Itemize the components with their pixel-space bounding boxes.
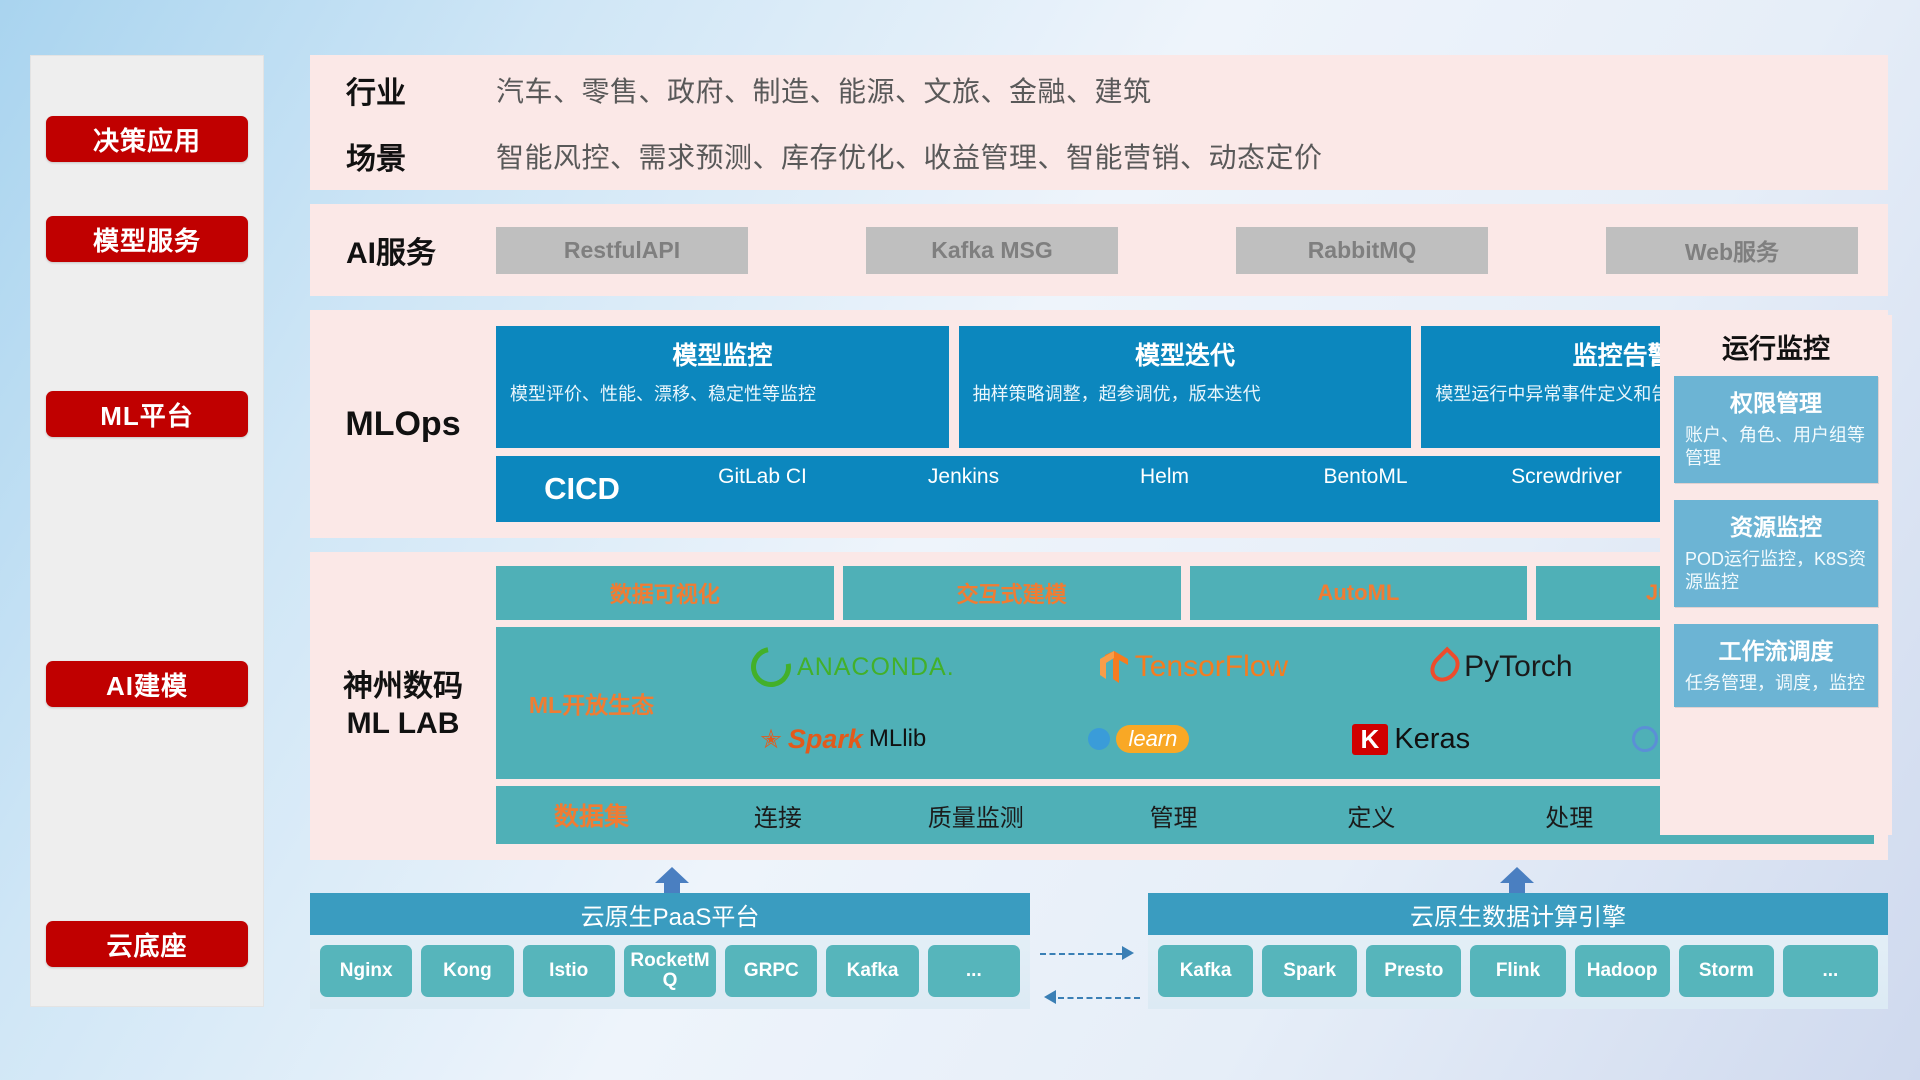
rail-chip-label: 决策应用 [93,121,201,158]
industry-label: 行业 [346,68,496,112]
ml-lab-band: 神州数码 ML LAB 数据可视化 交互式建模 AutoML JupyterLa… [310,552,1888,860]
spark-star-icon: ✭ [760,724,782,755]
dash-line-left [1058,997,1140,999]
dataset-item-manage[interactable]: 管理 [1075,798,1273,833]
tech-hadoop[interactable]: Hadoop [1575,945,1670,997]
spacer [310,190,1888,204]
api-chip-web[interactable]: Web服务 [1606,227,1858,274]
rail-chip-label: 云底座 [106,926,187,963]
rail-chip-cloud-base[interactable]: 云底座 [46,921,248,967]
ai-service-label: AI服务 [346,228,496,272]
cicd-item-bentoml[interactable]: BentoML [1265,466,1466,512]
lab-tab-interactive[interactable]: 交互式建模 [843,566,1181,620]
stack-link-connector [1040,935,1150,1005]
scikit-learn-logo: learn [1088,725,1189,753]
industry-scenario-band: 行业 汽车、零售、政府、制造、能源、文旅、金融、建筑 场景 智能风控、需求预测、… [310,55,1888,190]
mllib-label: MLlib [869,725,926,753]
networkx-node-icon [1632,726,1658,752]
tech-rocketmq[interactable]: RocketMQ [624,945,716,997]
tech-kafka-2[interactable]: Kafka [1158,945,1253,997]
keras-logo: K Keras [1352,723,1471,756]
cicd-item-jenkins[interactable]: Jenkins [863,466,1064,512]
card-desc: 模型评价、性能、漂移、稳定性等监控 [510,382,935,406]
tech-kong[interactable]: Kong [421,945,513,997]
ml-lab-label-line1: 神州数码 [343,670,463,703]
rr-card-title: 资源监控 [1685,508,1867,542]
tensorflow-logo: TensorFlow [1099,650,1288,684]
arrow-left-icon [1044,990,1056,1004]
rail-chip-decision[interactable]: 决策应用 [46,116,248,162]
anaconda-logo: ANACONDA. [751,647,955,687]
keras-label: Keras [1394,723,1470,756]
tech-nginx[interactable]: Nginx [320,945,412,997]
scenario-row: 场景 智能风控、需求预测、库存优化、收益管理、智能营销、动态定价 [346,134,1888,178]
compute-stack: 云原生数据计算引擎 Kafka Spark Presto Flink Hadoo… [1148,893,1888,1009]
cicd-title: CICD [502,471,662,507]
card-title: 模型迭代 [973,336,1398,372]
tech-presto[interactable]: Presto [1366,945,1461,997]
paas-stack: 云原生PaaS平台 Nginx Kong Istio RocketMQ GRPC… [310,893,1030,1009]
right-rail-title: 运行监控 [1660,315,1892,376]
rail-chip-ai-modeling[interactable]: AI建模 [46,661,248,707]
tech-flink[interactable]: Flink [1470,945,1565,997]
scikit-dot-icon [1088,728,1110,750]
api-chip-rabbitmq[interactable]: RabbitMQ [1236,227,1488,274]
tech-kafka[interactable]: Kafka [826,945,918,997]
rr-card-permission[interactable]: 权限管理 账户、角色、用户组等管理 [1674,376,1878,483]
scikit-learn-label: learn [1116,725,1189,753]
tensorflow-icon [1099,650,1129,684]
card-desc: 抽样策略调整，超参调优，版本迭代 [973,382,1398,406]
ml-lab-label-line2: ML LAB [347,707,460,740]
ml-lab-label: 神州数码 ML LAB [310,566,496,844]
pytorch-flame-icon [1425,646,1466,687]
pytorch-logo: PyTorch [1432,650,1572,684]
spark-mllib-logo: ✭ Spark MLlib [760,724,926,755]
rr-card-desc: POD运行监控，K8S资源监控 [1685,548,1867,595]
industry-values: 汽车、零售、政府、制造、能源、文旅、金融、建筑 [496,70,1152,110]
cicd-item-screwdriver[interactable]: Screwdriver [1466,466,1667,512]
lab-tab-data-viz[interactable]: 数据可视化 [496,566,834,620]
rr-card-workflow[interactable]: 工作流调度 任务管理，调度，监控 [1674,624,1878,707]
scenario-values: 智能风控、需求预测、库存优化、收益管理、智能营销、动态定价 [496,136,1323,176]
rail-chip-label: AI建模 [106,666,188,703]
left-rail: 决策应用 模型服务 ML平台 AI建模 云底座 [30,55,264,1007]
rail-chip-label: ML平台 [100,396,194,433]
api-chip-restful[interactable]: RestfulAPI [496,227,748,274]
dataset-label: 数据集 [504,797,679,833]
mlops-band: MLOps 模型监控 模型评价、性能、漂移、稳定性等监控 模型迭代 抽样策略调整… [310,310,1888,538]
paas-title: 云原生PaaS平台 [310,893,1030,935]
dataset-item-quality[interactable]: 质量监测 [877,798,1075,833]
rail-chip-ml-platform[interactable]: ML平台 [46,391,248,437]
dataset-item-process[interactable]: 处理 [1470,798,1668,833]
cicd-item-helm[interactable]: Helm [1064,466,1265,512]
rail-chip-label: 模型服务 [93,221,201,258]
mlops-card-model-monitoring[interactable]: 模型监控 模型评价、性能、漂移、稳定性等监控 [496,326,949,448]
dataset-item-define[interactable]: 定义 [1272,798,1470,833]
tensorflow-label: TensorFlow [1135,650,1288,684]
diagram-canvas: 决策应用 模型服务 ML平台 AI建模 云底座 行业 汽车、零售、政府、制造、能… [0,0,1920,1080]
tech-spark[interactable]: Spark [1262,945,1357,997]
lab-tab-automl[interactable]: AutoML [1190,566,1528,620]
anaconda-label: ANACONDA. [797,653,955,682]
ai-service-band: AI服务 RestfulAPI Kafka MSG RabbitMQ Web服务 [310,204,1888,296]
pytorch-label: PyTorch [1464,650,1572,684]
spacer [310,538,1888,552]
rr-card-title: 工作流调度 [1685,632,1867,666]
tech-storm[interactable]: Storm [1679,945,1774,997]
rr-card-title: 权限管理 [1685,384,1867,418]
tech-more-2[interactable]: ... [1783,945,1878,997]
rr-card-desc: 任务管理，调度，监控 [1685,672,1867,695]
right-rail: 运行监控 权限管理 账户、角色、用户组等管理 资源监控 POD运行监控，K8S资… [1660,315,1892,835]
scenario-label: 场景 [346,134,496,178]
ml-ecosystem-label: ML开放生态 [504,686,679,720]
api-chip-kafka[interactable]: Kafka MSG [866,227,1118,274]
mlops-card-model-iteration[interactable]: 模型迭代 抽样策略调整，超参调优，版本迭代 [959,326,1412,448]
rail-chip-model-service[interactable]: 模型服务 [46,216,248,262]
dash-line-right [1040,953,1122,955]
cicd-item-gitlab[interactable]: GitLab CI [662,466,863,512]
tech-more[interactable]: ... [928,945,1020,997]
spacer [310,296,1888,310]
dataset-item-connect[interactable]: 连接 [679,798,877,833]
anaconda-ring-icon [743,639,799,695]
tech-istio[interactable]: Istio [523,945,615,997]
keras-mark-icon: K [1352,724,1389,755]
industry-row: 行业 汽车、零售、政府、制造、能源、文旅、金融、建筑 [346,68,1888,112]
spark-label: Spark [788,724,863,755]
arrow-right-icon [1122,946,1134,960]
tech-grpc[interactable]: GRPC [725,945,817,997]
mlops-label: MLOps [310,326,496,522]
rr-card-resource[interactable]: 资源监控 POD运行监控，K8S资源监控 [1674,500,1878,607]
main-column: 行业 汽车、零售、政府、制造、能源、文旅、金融、建筑 场景 智能风控、需求预测、… [310,55,1888,860]
compute-title: 云原生数据计算引擎 [1148,893,1888,935]
card-title: 模型监控 [510,336,935,372]
rr-card-desc: 账户、角色、用户组等管理 [1685,424,1867,471]
